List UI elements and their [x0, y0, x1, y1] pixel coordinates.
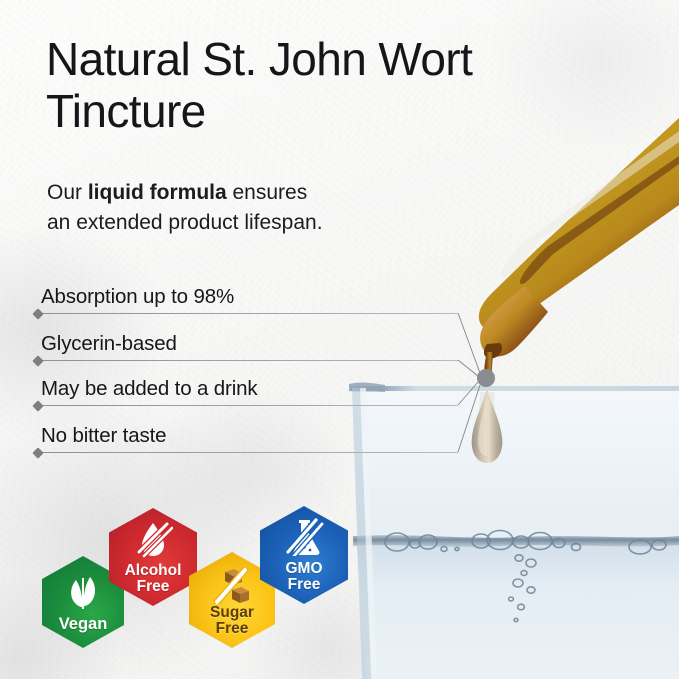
badge-vegan-text: Vegan — [59, 616, 108, 648]
feature-label-glycerin: Glycerin-based — [41, 332, 177, 356]
badge-gmo-free-text: GMO Free — [285, 561, 322, 604]
badge-alcohol-free-text: Alcohol Free — [125, 563, 182, 606]
subtitle-line-2: an extended product lifespan. — [47, 211, 323, 234]
feature-label-absorption: Absorption up to 98% — [41, 285, 234, 309]
sugar-cube-bottom — [232, 587, 249, 603]
certification-badges: Vegan Alcohol Free — [34, 500, 364, 660]
badge-sugar-free-text: Sugar Free — [210, 605, 254, 648]
badge-gmo-free-line-1: GMO — [285, 561, 322, 577]
badge-alcohol-free-line-2: Free — [125, 579, 182, 595]
subtitle-prefix: Our — [47, 181, 88, 204]
feature-rule — [38, 360, 458, 361]
droplet-crossed-icon — [133, 520, 173, 558]
badge-sugar-free-line-2: Free — [210, 621, 254, 637]
badge-sugar-free-line-1: Sugar — [210, 605, 254, 621]
subtitle-suffix: ensures — [227, 181, 308, 204]
feature-rule — [38, 313, 458, 314]
leaf-icon — [63, 573, 103, 609]
feature-rule — [38, 452, 458, 453]
feature-rule — [38, 405, 458, 406]
badge-gmo-free-line-2: Free — [285, 577, 322, 593]
feature-callout-4: No bitter taste — [38, 452, 458, 453]
product-infographic: Natural St. John Wort Tincture Our liqui… — [0, 0, 679, 679]
subtitle-emphasis: liquid formula — [88, 181, 227, 204]
headline-line-2: Tincture — [46, 86, 606, 138]
page-title: Natural St. John Wort Tincture — [46, 34, 606, 137]
feature-callout-1: Absorption up to 98% — [38, 313, 458, 314]
flask-crossed-icon — [284, 518, 324, 556]
feature-label-drink: May be added to a drink — [41, 377, 258, 401]
feature-label-taste: No bitter taste — [41, 424, 166, 448]
subtitle: Our liquid formula ensures an extended p… — [47, 178, 447, 238]
badge-vegan-line-1: Vegan — [59, 616, 108, 633]
headline-line-1: Natural St. John Wort — [46, 34, 606, 86]
sugar-cubes-crossed-icon — [212, 568, 252, 604]
feature-callout-3: May be added to a drink — [38, 405, 458, 406]
feature-callout-2: Glycerin-based — [38, 360, 458, 361]
badge-alcohol-free-line-1: Alcohol — [125, 563, 182, 579]
